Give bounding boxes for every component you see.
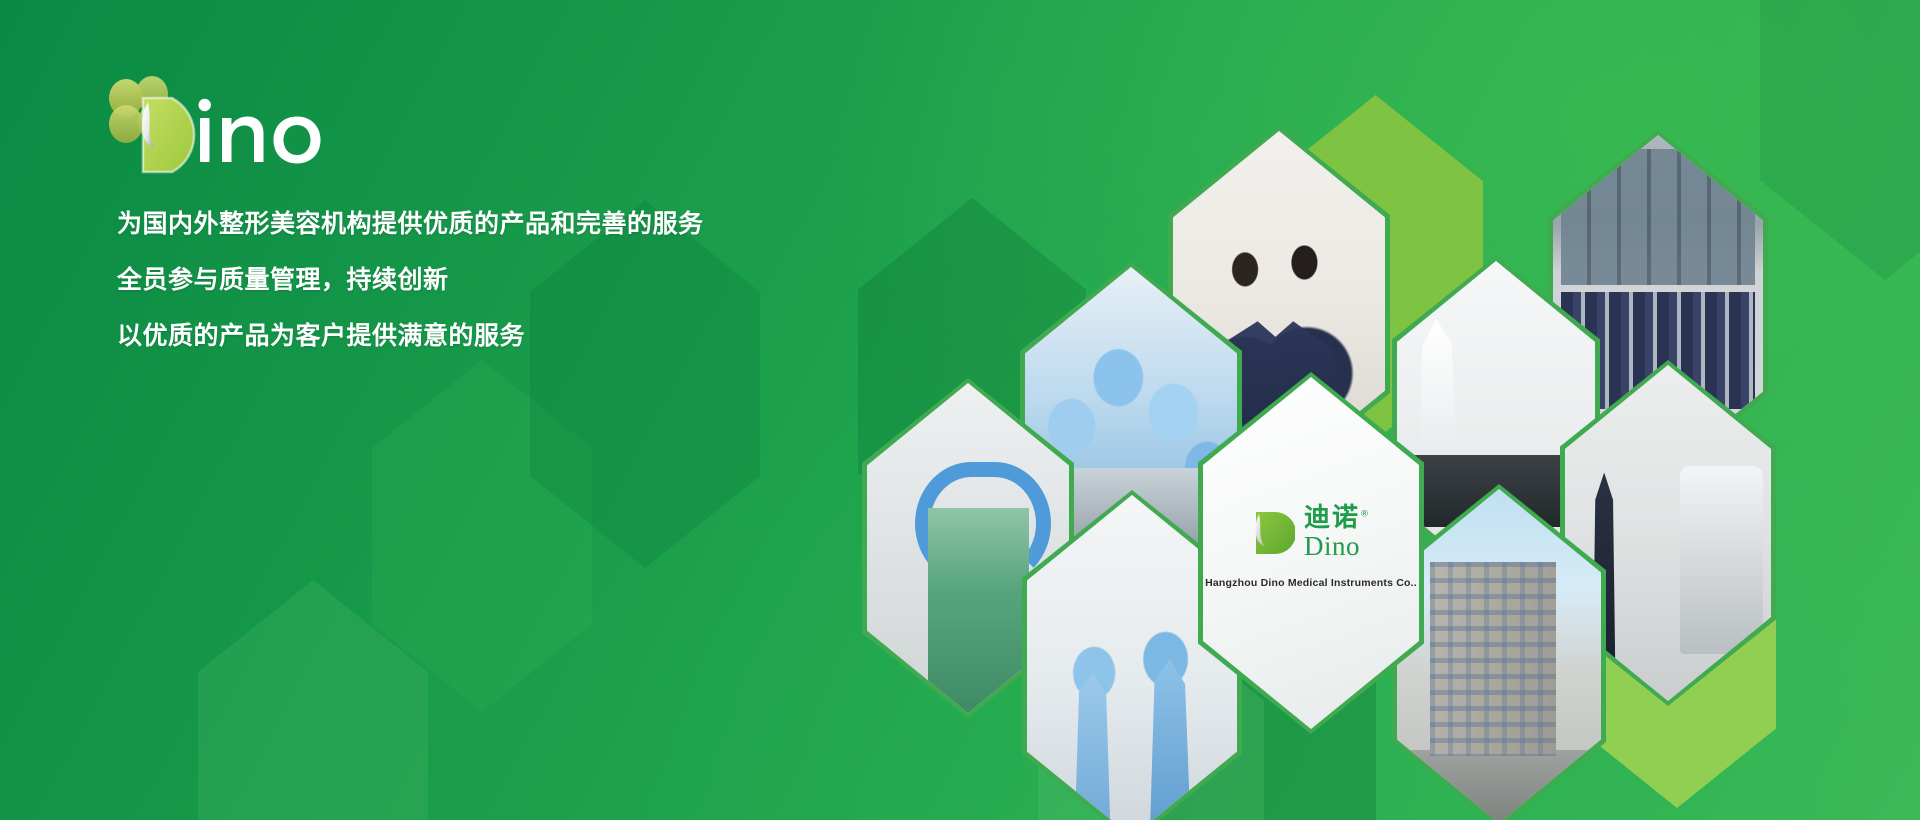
badge-en-name: Dino (1304, 533, 1360, 560)
badge-cn-name: 迪诺® (1304, 505, 1371, 531)
badge-d-mark-icon (1251, 509, 1295, 557)
registered-mark: ® (1360, 509, 1371, 519)
company-name-line: Hangzhou Dino Medical Instruments Co.. (1205, 577, 1417, 589)
hero-banner: 为国内外整形美容机构提供优质的产品和完善的服务 全员参与质量管理，持续创新 以优… (0, 0, 1920, 820)
center-logo-badge: 迪诺® Dino (1251, 505, 1371, 560)
hexagon-photo-cluster: 迪诺® Dino Hangzhou Dino Medical Instrumen… (0, 0, 1920, 820)
